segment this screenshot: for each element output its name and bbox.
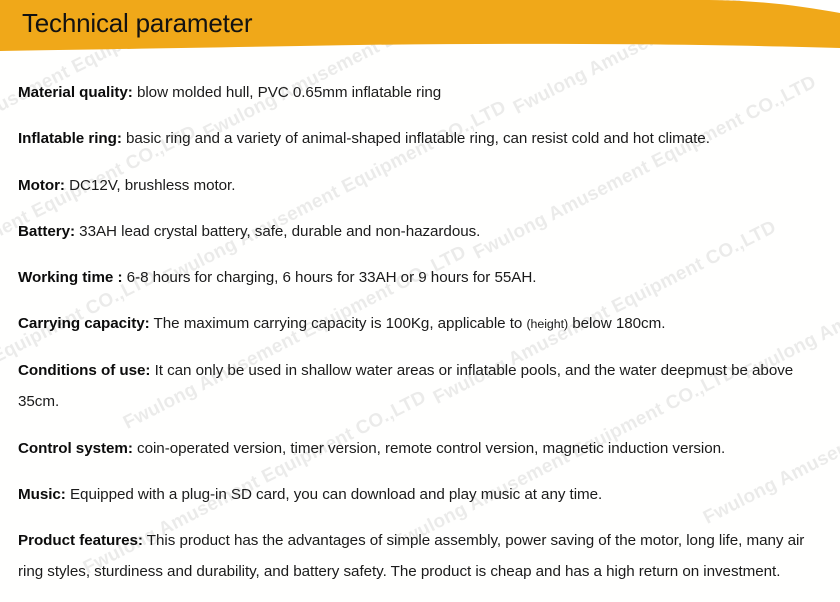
spec-value-battery: 33AH lead crystal battery, safe, durable…: [75, 223, 480, 240]
spec-value-carrying-capacity-tail: below 180cm.: [568, 315, 665, 332]
spec-value-working-time: 6-8 hours for charging, 6 hours for 33AH…: [123, 269, 537, 286]
spec-row-conditions-of-use: Conditions of use: It can only be used i…: [18, 355, 824, 417]
spec-value-carrying-capacity: The maximum carrying capacity is 100Kg, …: [150, 315, 527, 332]
spec-row-carrying-capacity: Carrying capacity: The maximum carrying …: [18, 308, 824, 340]
spec-label-control-system: Control system:: [18, 440, 133, 457]
spec-label-battery: Battery:: [18, 223, 75, 240]
spec-row-motor: Motor: DC12V, brushless motor.: [18, 170, 824, 201]
spec-value-material-quality: blow molded hull, PVC 0.65mm inflatable …: [133, 84, 441, 101]
spec-value-control-system: coin-operated version, timer version, re…: [133, 440, 725, 457]
page-title: Technical parameter: [22, 5, 252, 41]
spec-label-conditions-of-use: Conditions of use:: [18, 362, 150, 379]
spec-label-motor: Motor:: [18, 177, 65, 194]
spec-label-material-quality: Material quality:: [18, 84, 133, 101]
spec-label-product-features: Product features:: [18, 532, 143, 549]
spec-value-music: Equipped with a plug-in SD card, you can…: [66, 486, 602, 503]
spec-row-inflatable-ring: Inflatable ring: basic ring and a variet…: [18, 123, 824, 154]
spec-list: Material quality: blow molded hull, PVC …: [18, 62, 824, 602]
spec-label-carrying-capacity: Carrying capacity:: [18, 315, 150, 332]
spec-row-control-system: Control system: coin-operated version, t…: [18, 433, 824, 464]
spec-value-inflatable-ring: basic ring and a variety of animal-shape…: [122, 130, 710, 147]
spec-row-working-time: Working time : 6-8 hours for charging, 6…: [18, 262, 824, 293]
spec-label-inflatable-ring: Inflatable ring:: [18, 130, 122, 147]
spec-label-music: Music:: [18, 486, 66, 503]
spec-row-product-features: Product features: This product has the a…: [18, 525, 824, 587]
spec-value-motor: DC12V, brushless motor.: [65, 177, 235, 194]
spec-row-material-quality: Material quality: blow molded hull, PVC …: [18, 77, 824, 108]
spec-value-carrying-capacity-height-note: (height): [526, 317, 568, 331]
spec-row-battery: Battery: 33AH lead crystal battery, safe…: [18, 216, 824, 247]
spec-row-music: Music: Equipped with a plug-in SD card, …: [18, 479, 824, 510]
spec-label-working-time: Working time :: [18, 269, 123, 286]
